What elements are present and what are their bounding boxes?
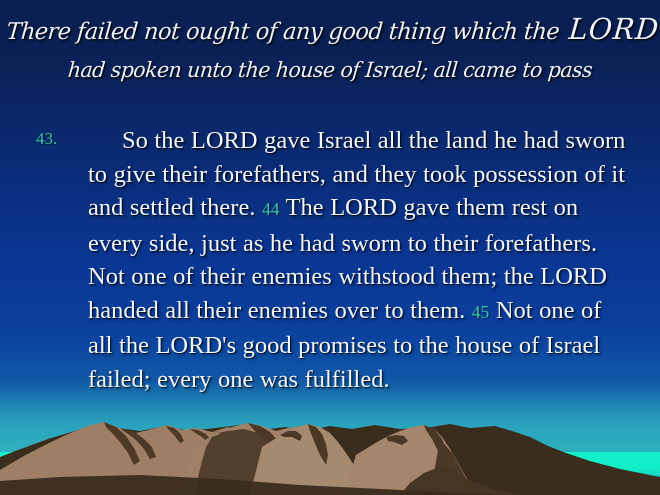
title-line-1-text: There failed not ought of any good thing… xyxy=(5,19,567,45)
verse-number-44: 44 xyxy=(262,199,280,219)
verse-body-block: 43. So the LORD gave Israel all the land… xyxy=(36,124,632,396)
title-line-1: There failed not ought of any good thing… xyxy=(5,14,655,47)
verse-number-43: 43. xyxy=(36,129,57,149)
slide-canvas: There failed not ought of any good thing… xyxy=(0,0,660,495)
title-line-2: had spoken unto the house of Israel; all… xyxy=(5,55,654,85)
verse-paragraph: So the LORD gave Israel all the land he … xyxy=(88,124,632,396)
mountain-landscape-graphic xyxy=(0,395,660,495)
title-lord-word: LORD xyxy=(565,12,660,46)
slide-title: There failed not ought of any good thing… xyxy=(0,14,660,85)
verse-number-45: 45 xyxy=(472,302,490,322)
